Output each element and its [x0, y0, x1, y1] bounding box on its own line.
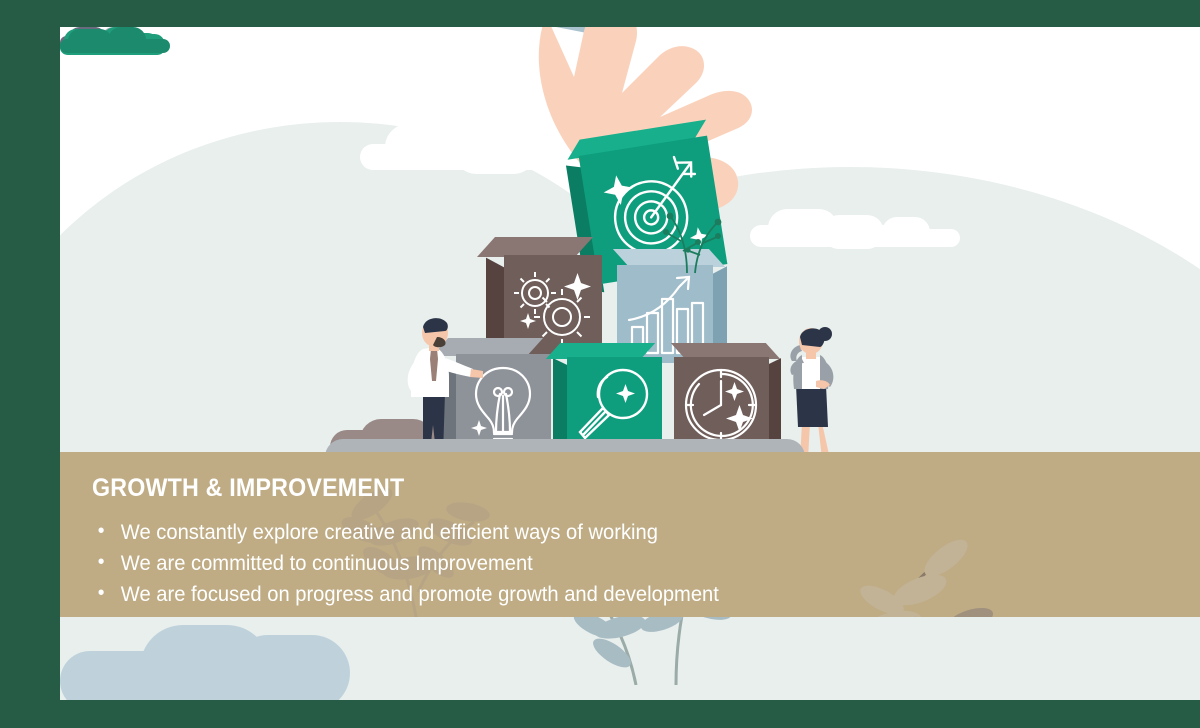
bottom-bush-group: [60, 617, 350, 697]
sparkle-icon: [726, 405, 753, 432]
list-item: We are focused on progress and promote g…: [92, 579, 1156, 610]
gray-cloud-3: [60, 78, 130, 100]
sparkle-icon: [520, 313, 536, 329]
green-bush-right: [60, 126, 165, 154]
list-item: We are committed to continuous Improveme…: [92, 548, 1156, 579]
slide-canvas: GROWTH & IMPROVEMENT We constantly explo…: [60, 27, 1200, 700]
bottom-scenery-strip: [60, 617, 1200, 700]
sparkle-icon: [725, 382, 744, 401]
values-list: We constantly explore creative and effic…: [92, 517, 1200, 610]
green-bush-top-left: [60, 100, 158, 126]
plant-sprig-icon: [647, 203, 737, 273]
white-cloud-3: [870, 217, 960, 247]
gray-cloud-2: [60, 51, 160, 78]
page-title: GROWTH & IMPROVEMENT: [92, 474, 1122, 503]
sparkle-icon: [564, 273, 591, 300]
list-item: We constantly explore creative and effic…: [92, 517, 1156, 548]
caption-band: GROWTH & IMPROVEMENT We constantly explo…: [60, 452, 1200, 617]
slide-root: GROWTH & IMPROVEMENT We constantly explo…: [0, 0, 1200, 728]
sparkle-icon: [616, 384, 635, 403]
footer-bar: [0, 700, 1200, 728]
caption-content: GROWTH & IMPROVEMENT We constantly explo…: [92, 474, 1200, 610]
